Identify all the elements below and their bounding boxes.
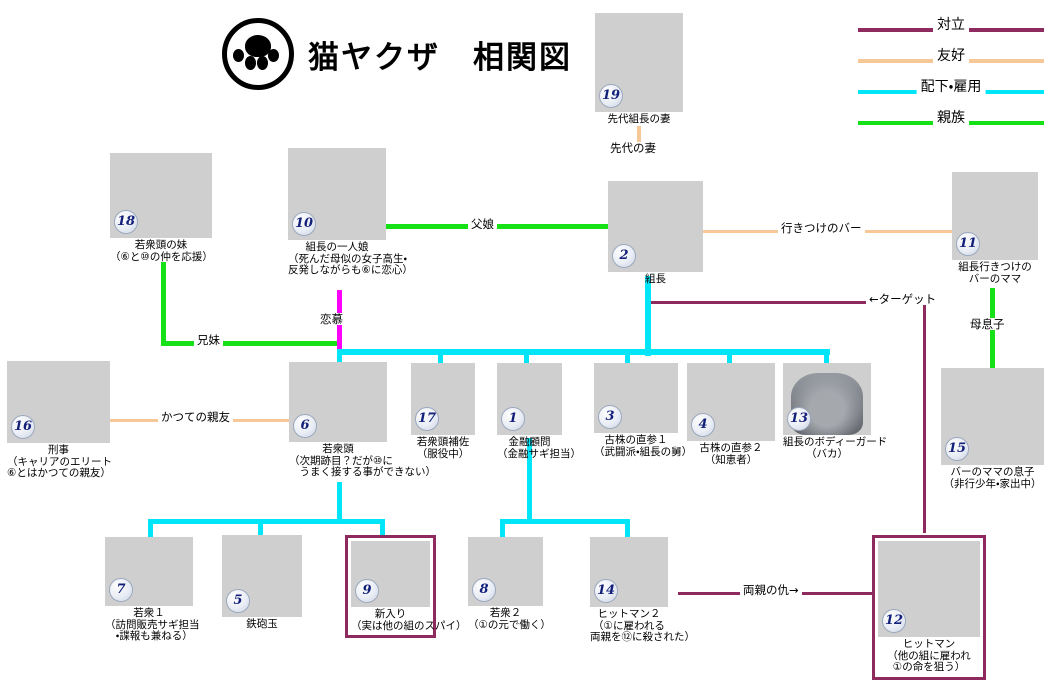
node-16[interactable]: 16 刑事 （キャリアのエリート ⑥とはかつての親友） bbox=[7, 361, 110, 480]
node-10-badge: 10 bbox=[292, 212, 316, 236]
cat-paw-icon bbox=[222, 18, 294, 90]
node-8-photo: 8 bbox=[468, 537, 543, 606]
node-2[interactable]: 2 組長 bbox=[608, 181, 703, 286]
node-13-caption: 組長のボディーガード （バカ） bbox=[783, 437, 871, 460]
node-13-badge: 13 bbox=[787, 407, 811, 431]
edge-label-hahamusuko: 母息子 bbox=[967, 318, 1008, 330]
legend-label-family: 親族 bbox=[933, 109, 969, 127]
edge-label-fuko: 父娘 bbox=[468, 218, 497, 230]
legend-item-family: 親族 bbox=[858, 107, 1044, 138]
node-4[interactable]: 4 古株の直参２ （知恵者） bbox=[687, 363, 775, 466]
node-11-photo: 11 bbox=[952, 172, 1038, 260]
edge-label-ryoshin: 両親の仇→ bbox=[740, 584, 802, 596]
node-16-badge: 16 bbox=[11, 415, 35, 439]
node-12-badge: 12 bbox=[882, 609, 906, 633]
node-13-photo: 13 bbox=[783, 363, 871, 435]
node-3-photo: 3 bbox=[594, 363, 678, 433]
legend: 対立 友好 配下・雇用 親族 bbox=[858, 14, 1044, 138]
edge-label-target: ←ターゲット bbox=[866, 293, 939, 305]
node-5[interactable]: 5 鉄砲玉 bbox=[222, 535, 302, 631]
edge-2-bus-drop bbox=[645, 276, 651, 356]
node-6-photo: 6 bbox=[289, 362, 387, 442]
node-14-badge: 14 bbox=[594, 579, 618, 603]
node-10-caption: 組長の一人娘 （死んだ母似の女子高生・ 反発しながらも⑥に恋心） bbox=[288, 242, 386, 277]
node-15[interactable]: 15 バーのママの息子 （非行少年・家出中） bbox=[941, 368, 1044, 490]
node-17-photo: 17 bbox=[411, 363, 475, 435]
node-8-caption: 若衆２ （①の元で働く） bbox=[468, 608, 543, 631]
edge-label-bar: 行きつけのバー bbox=[778, 222, 865, 234]
legend-item-friendship: 友好 bbox=[858, 45, 1044, 76]
legend-label-conflict: 対立 bbox=[933, 16, 969, 34]
node-14-caption: ヒットマン２ （①に雇われる 両親を⑫に殺された） bbox=[590, 609, 668, 644]
node-9-photo: 9 bbox=[351, 541, 430, 607]
edge-18-6-family bbox=[161, 341, 339, 346]
edge-18-drop bbox=[161, 262, 166, 342]
edge-label-kyodai: 兄妹 bbox=[194, 334, 223, 346]
edge-target-drop bbox=[923, 301, 926, 533]
node-19-photo: 19 bbox=[595, 13, 683, 112]
node-5-caption: 鉄砲玉 bbox=[222, 619, 302, 631]
page-title: 猫ヤクザ 相関図 bbox=[308, 32, 572, 77]
legend-label-friendship: 友好 bbox=[933, 47, 969, 65]
node-12-photo: 12 bbox=[878, 541, 980, 637]
node-15-caption: バーのママの息子 （非行少年・家出中） bbox=[941, 467, 1044, 490]
node-6-badge: 6 bbox=[293, 414, 317, 438]
edge-6-bus bbox=[148, 519, 342, 524]
edge-1-to-14 bbox=[625, 519, 630, 537]
edge-10-2-family bbox=[386, 224, 608, 229]
node-7-badge: 7 bbox=[109, 578, 133, 602]
node-19-badge: 19 bbox=[599, 84, 623, 108]
relationship-chart: 猫ヤクザ 相関図 対立 友好 配下・雇用 親族 先代の妻 父娘 行きつけのバー … bbox=[0, 0, 1053, 695]
node-18-photo: 18 bbox=[110, 153, 212, 238]
node-5-badge: 5 bbox=[226, 589, 250, 613]
node-2-badge: 2 bbox=[612, 244, 636, 268]
node-18[interactable]: 18 若衆頭の妹 （⑥と⑩の仲を応援） bbox=[110, 153, 212, 263]
edge-label-renbo: 恋慕 bbox=[317, 313, 346, 325]
node-10[interactable]: 10 組長の一人娘 （死んだ母似の女子高生・ 反発しながらも⑥に恋心） bbox=[288, 148, 386, 277]
node-16-photo: 16 bbox=[7, 361, 110, 443]
edge-6-bus-right bbox=[337, 519, 385, 524]
node-7-caption: 若衆１ （訪問販売サギ担当 ・諜報も兼ねる） bbox=[105, 608, 193, 643]
node-18-badge: 18 bbox=[114, 210, 138, 234]
node-1-caption: 金融顧問 （金融サギ担当） bbox=[497, 437, 562, 460]
node-15-badge: 15 bbox=[945, 437, 969, 461]
node-6[interactable]: 6 若衆頭 （次期跡目？だが⑩に うまく接する事ができない） bbox=[289, 362, 387, 479]
chart-header: 猫ヤクザ 相関図 bbox=[222, 18, 572, 90]
node-11-caption: 組長行きつけの バーのママ bbox=[952, 262, 1038, 285]
node-19[interactable]: 19 先代組長の妻 bbox=[595, 13, 683, 126]
node-10-photo: 10 bbox=[288, 148, 386, 240]
node-9-badge: 9 bbox=[355, 579, 379, 603]
node-12[interactable]: 12 ヒットマン （他の組に雇われ ①の命を狙う） bbox=[872, 535, 986, 680]
edge-1-bus bbox=[500, 519, 630, 524]
node-16-caption: 刑事 （キャリアのエリート ⑥とはかつての親友） bbox=[7, 445, 110, 480]
edge-6-to-7 bbox=[148, 519, 153, 537]
node-15-photo: 15 bbox=[941, 368, 1044, 465]
node-7-photo: 7 bbox=[105, 537, 193, 606]
node-18-caption: 若衆頭の妹 （⑥と⑩の仲を応援） bbox=[110, 240, 212, 263]
node-12-caption: ヒットマン （他の組に雇われ ①の命を狙う） bbox=[878, 639, 980, 674]
node-1-photo: 1 bbox=[497, 363, 562, 435]
node-4-photo: 4 bbox=[687, 363, 775, 441]
node-4-caption: 古株の直参２ （知恵者） bbox=[687, 443, 775, 466]
node-14-photo: 14 bbox=[590, 537, 668, 607]
node-3[interactable]: 3 古株の直参１ （武闘派・組長の舅） bbox=[594, 363, 678, 458]
node-13[interactable]: 13 組長のボディーガード （バカ） bbox=[783, 363, 871, 460]
node-11[interactable]: 11 組長行きつけの バーのママ bbox=[952, 172, 1038, 285]
node-3-caption: 古株の直参１ （武闘派・組長の舅） bbox=[594, 435, 678, 458]
node-1-badge: 1 bbox=[501, 407, 525, 431]
node-17-badge: 17 bbox=[415, 407, 439, 431]
node-9-caption: 新入り （実は他の組のスパイ） bbox=[351, 609, 430, 632]
node-2-caption: 組長 bbox=[608, 274, 703, 286]
edge-subordinate-bus bbox=[430, 349, 830, 355]
node-5-photo: 5 bbox=[222, 535, 302, 617]
node-8[interactable]: 8 若衆２ （①の元で働く） bbox=[468, 537, 543, 631]
legend-label-subordinate: 配下・雇用 bbox=[917, 78, 986, 96]
edge-1-to-8 bbox=[500, 519, 505, 537]
node-17[interactable]: 17 若衆頭補佐 （服役中） bbox=[411, 363, 475, 460]
node-17-caption: 若衆頭補佐 （服役中） bbox=[411, 437, 475, 460]
node-2-photo: 2 bbox=[608, 181, 703, 272]
legend-item-conflict: 対立 bbox=[858, 14, 1044, 45]
node-9[interactable]: 9 新入り （実は他の組のスパイ） bbox=[345, 535, 436, 638]
edge-label-senndai: 先代の妻 bbox=[607, 142, 659, 154]
node-6-caption: 若衆頭 （次期跡目？だが⑩に うまく接する事ができない） bbox=[289, 444, 387, 479]
edge-bus-left-stub bbox=[337, 349, 437, 355]
node-7[interactable]: 7 若衆１ （訪問販売サギ担当 ・諜報も兼ねる） bbox=[105, 537, 193, 643]
legend-item-subordinate: 配下・雇用 bbox=[858, 76, 1044, 107]
node-8-badge: 8 bbox=[472, 578, 496, 602]
node-11-badge: 11 bbox=[956, 232, 980, 256]
node-14[interactable]: 14 ヒットマン２ （①に雇われる 両親を⑫に殺された） bbox=[590, 537, 668, 644]
node-3-badge: 3 bbox=[598, 405, 622, 429]
node-1[interactable]: 1 金融顧問 （金融サギ担当） bbox=[497, 363, 562, 460]
node-19-caption: 先代組長の妻 bbox=[595, 114, 683, 126]
node-4-badge: 4 bbox=[691, 413, 715, 437]
edge-6-drop bbox=[337, 482, 342, 522]
edge-label-shinyu: かつての親友 bbox=[158, 411, 233, 423]
